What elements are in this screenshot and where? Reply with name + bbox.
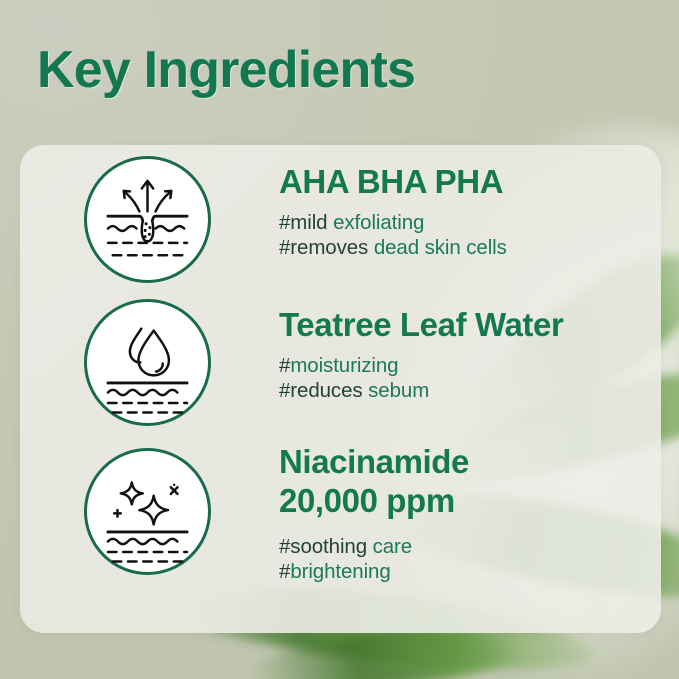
ingredient-list: AHA BHA PHA #mild exfoliating #removes d…: [20, 145, 661, 633]
tag-line: #reduces sebum: [279, 378, 647, 403]
ingredient-icon-wrapper: [84, 299, 211, 426]
tag-line: #soothing care: [279, 534, 647, 559]
ingredient-tags: #mild exfoliating #removes dead skin cel…: [279, 210, 647, 260]
tag-line: #brightening: [279, 559, 647, 584]
page-title: Key Ingredients: [37, 41, 415, 99]
ingredients-card: AHA BHA PHA #mild exfoliating #removes d…: [20, 145, 661, 633]
heading-line-1: Niacinamide: [279, 443, 469, 480]
tag-line: #mild exfoliating: [279, 210, 647, 235]
tag-line: #moisturizing: [279, 353, 647, 378]
ingredient-heading: Niacinamide 20,000 ppm: [279, 442, 647, 520]
sparkles-skin-layers-icon: [84, 448, 211, 575]
ingredient-tags: #soothing care #brightening: [279, 534, 647, 584]
ingredient-heading: AHA BHA PHA: [279, 162, 647, 201]
ingredient-text: Teatree Leaf Water #moisturizing #reduce…: [279, 305, 647, 403]
heading-line-2: 20,000 ppm: [279, 482, 455, 519]
ingredient-row: Niacinamide 20,000 ppm #soothing care #b…: [20, 434, 661, 633]
exfoliating-pore-arrows-icon: [84, 156, 211, 283]
ingredient-row: Teatree Leaf Water #moisturizing #reduce…: [20, 291, 661, 434]
ingredient-icon-wrapper: [84, 156, 211, 283]
ingredient-icon-wrapper: [84, 448, 211, 575]
ingredient-row: AHA BHA PHA #mild exfoliating #removes d…: [20, 148, 661, 291]
tag-line: #removes dead skin cells: [279, 235, 647, 260]
ingredient-heading: Teatree Leaf Water: [279, 305, 647, 344]
ingredient-text: AHA BHA PHA #mild exfoliating #removes d…: [279, 162, 647, 260]
ingredient-tags: #moisturizing #reduces sebum: [279, 353, 647, 403]
water-droplets-skin-layers-icon: [84, 299, 211, 426]
infographic-stage: Key Ingredients: [0, 0, 679, 679]
ingredient-text: Niacinamide 20,000 ppm #soothing care #b…: [279, 442, 647, 584]
